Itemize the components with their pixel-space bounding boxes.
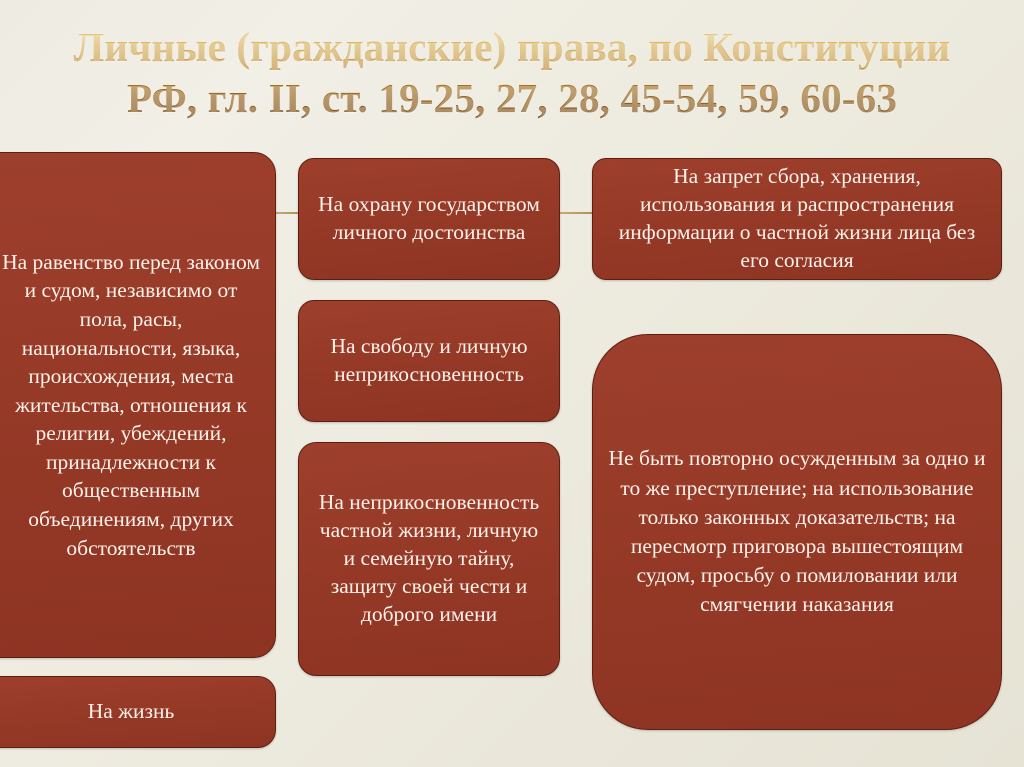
slide-canvas: Личные (гражданские) права, по Конституц… (0, 0, 1024, 767)
right-card-double-jeopardy[interactable]: Не быть повторно осужденным за одно и то… (592, 334, 1002, 730)
right-card-dignity-text: На охрану государством личного достоинст… (313, 191, 545, 247)
right-card-double-jeopardy-text: Не быть повторно осужденным за одно и то… (607, 444, 987, 619)
page-title: Личные (гражданские) права, по Конституц… (0, 22, 1024, 124)
right-card-data-ban-text: На запрет сбора, хранения, использования… (607, 163, 987, 275)
right-card-privacy-text: На неприкосновенность частной жизни, лич… (313, 489, 545, 629)
right-card-equality[interactable]: На равенство перед законом и судом, неза… (0, 152, 276, 658)
right-card-equality-text: На равенство перед законом и судом, неза… (1, 248, 261, 563)
right-card-freedom[interactable]: На свободу и личную неприкосновенность (298, 300, 560, 422)
right-card-life-text: На жизнь (1, 698, 261, 726)
right-card-dignity[interactable]: На охрану государством личного достоинст… (298, 158, 560, 280)
right-card-data-ban[interactable]: На запрет сбора, хранения, использования… (592, 158, 1002, 280)
right-card-privacy[interactable]: На неприкосновенность частной жизни, лич… (298, 442, 560, 676)
right-card-life[interactable]: На жизнь (0, 676, 276, 748)
connector-middle-to-right (556, 212, 596, 214)
right-card-freedom-text: На свободу и личную неприкосновенность (313, 333, 545, 389)
